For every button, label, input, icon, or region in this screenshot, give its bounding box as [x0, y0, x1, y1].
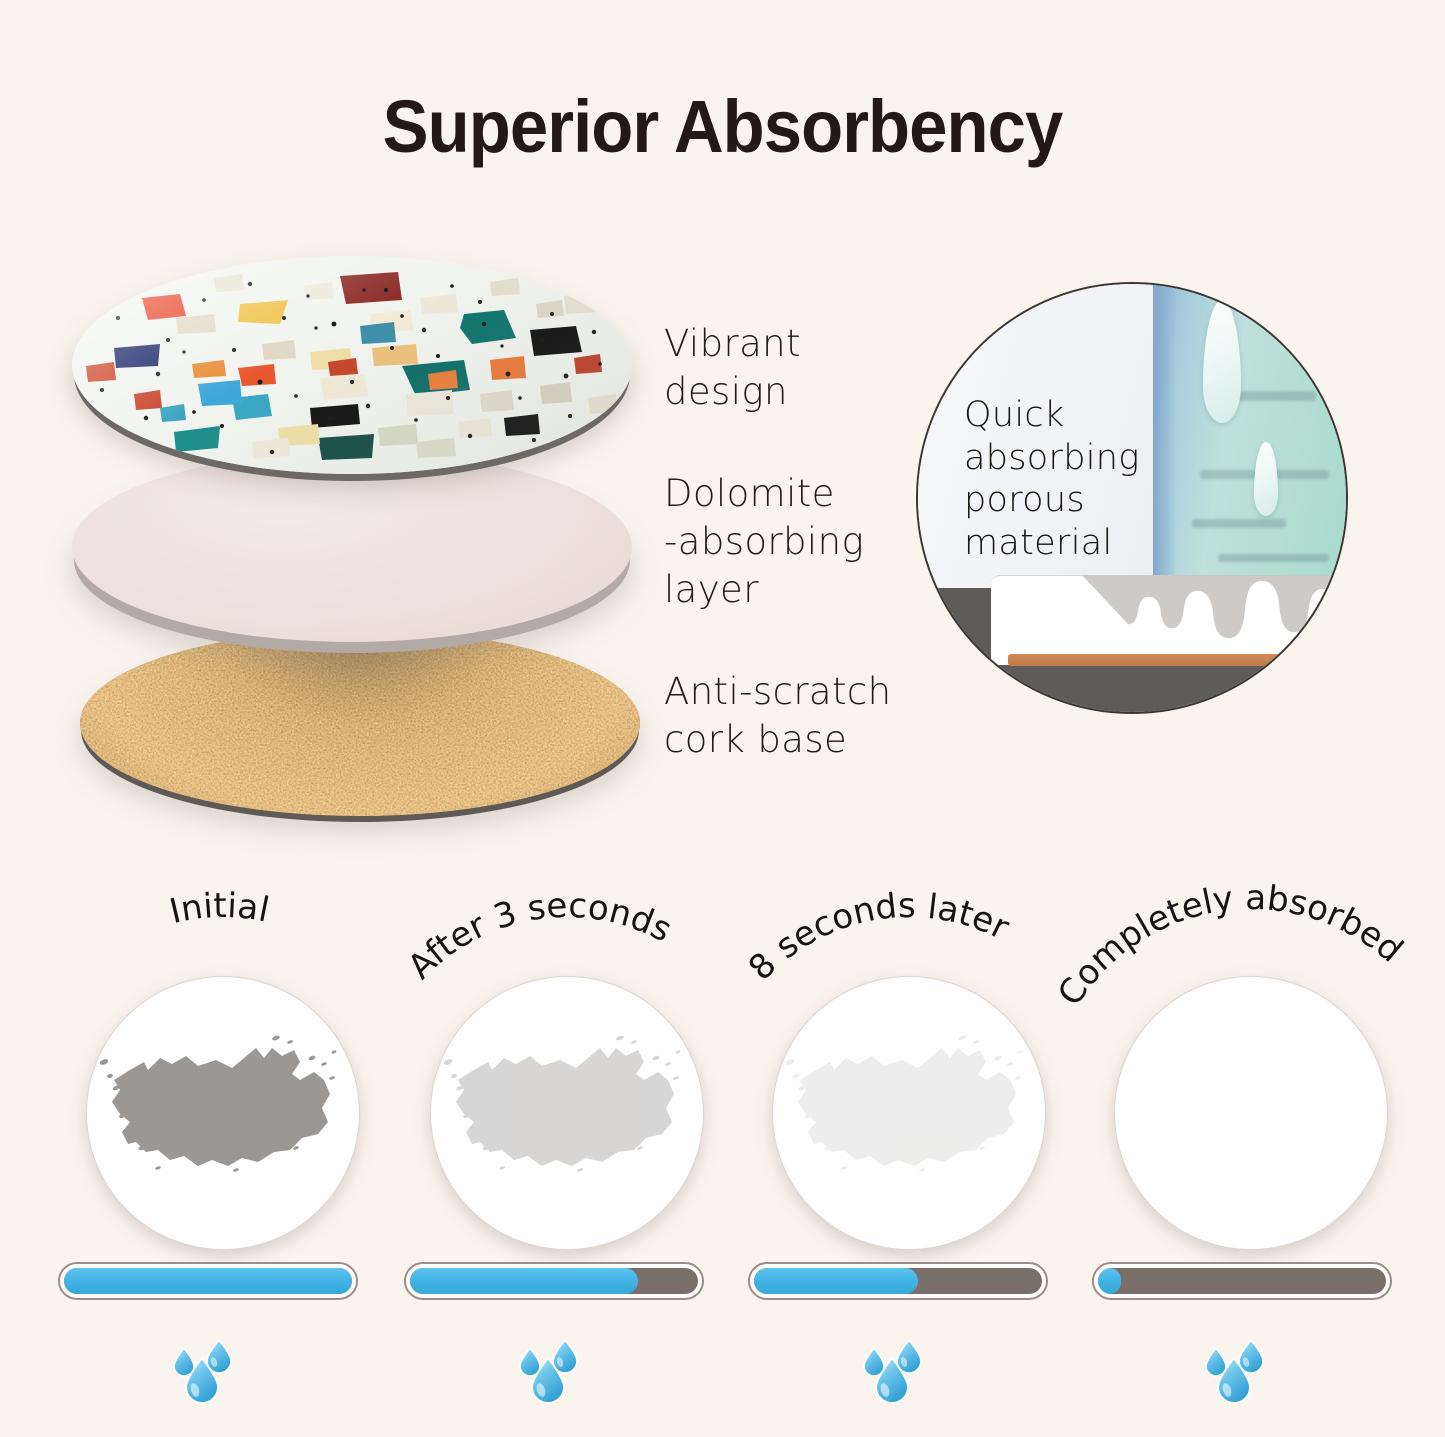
liquid-stain: [772, 1018, 1046, 1208]
arc-label-text: Initial: [166, 886, 273, 932]
feature-line: cork base: [664, 716, 892, 764]
stage-8-seconds-later-coaster: [772, 976, 1046, 1250]
inset-caption-line: absorbing: [964, 437, 1140, 480]
inset-shadow-line: [1218, 554, 1329, 562]
progress-track: [754, 1268, 1042, 1294]
water-drops-icon: [860, 1334, 946, 1408]
feature-label-dolomite: Dolomite -absorbing layer: [664, 470, 864, 614]
inset-caption: Quick absorbing porous material: [964, 394, 1140, 565]
feature-label-cork-base: Anti-scratch cork base: [664, 668, 892, 764]
stage-completely-absorbed-coaster: [1114, 976, 1388, 1250]
stage-completely-absorbed-progress-bar: [1092, 1262, 1392, 1300]
cork-shading: [80, 630, 640, 816]
feature-line: Dolomite: [664, 470, 864, 518]
stage-after-3-seconds-coaster: [430, 976, 704, 1250]
liquid-stain: [86, 1018, 360, 1208]
progress-track: [64, 1268, 352, 1294]
stage-8-seconds-later-progress-bar: [748, 1262, 1048, 1300]
water-drops-icon: [1202, 1334, 1288, 1408]
feature-line: Vibrant: [664, 320, 801, 368]
water-drops-icon: [516, 1334, 602, 1408]
water-drops-icon: [170, 1334, 256, 1408]
progress-track: [1098, 1268, 1386, 1294]
progress-track: [410, 1268, 698, 1294]
terrazzo-pattern: [72, 256, 632, 474]
progress-fill: [410, 1268, 638, 1294]
feature-line: design: [664, 368, 801, 416]
feature-line: layer: [664, 566, 864, 614]
progress-fill: [1098, 1268, 1121, 1294]
progress-fill: [754, 1268, 918, 1294]
inset-table-surface: [918, 588, 995, 712]
page-title: Superior Absorbency: [51, 84, 1395, 169]
vibrant-design-layer: [72, 256, 632, 474]
feature-line: Anti-scratch: [664, 668, 892, 716]
stage-initial-coaster: [86, 976, 360, 1250]
quick-absorbing-closeup: Quick absorbing porous material: [916, 282, 1348, 714]
inset-liquid-drips: [991, 575, 1348, 665]
inset-cork-strip: [1008, 654, 1316, 666]
inset-caption-line: Quick: [964, 394, 1140, 437]
feature-label-vibrant-design: Vibrant design: [664, 320, 801, 416]
dolomite-layer: [72, 452, 632, 642]
feature-line: -absorbing: [664, 518, 864, 566]
progress-fill: [64, 1268, 352, 1294]
inset-shadow-line: [1192, 519, 1286, 528]
arc-label-text: After 3 seconds: [400, 886, 678, 987]
inset-caption-line: porous: [964, 479, 1140, 522]
infographic-root: Superior Absorbency: [0, 0, 1445, 1432]
cork-base-layer: [80, 630, 640, 816]
drip-shape: [991, 575, 1348, 665]
inset-caption-line: material: [964, 522, 1140, 565]
inset-panel-edge: [1153, 284, 1175, 601]
stage-after-3-seconds-progress-bar: [404, 1262, 704, 1300]
liquid-stain: [430, 1018, 704, 1208]
stage-initial-progress-bar: [58, 1262, 358, 1300]
arc-label-text: 8 seconds later: [741, 886, 1015, 988]
